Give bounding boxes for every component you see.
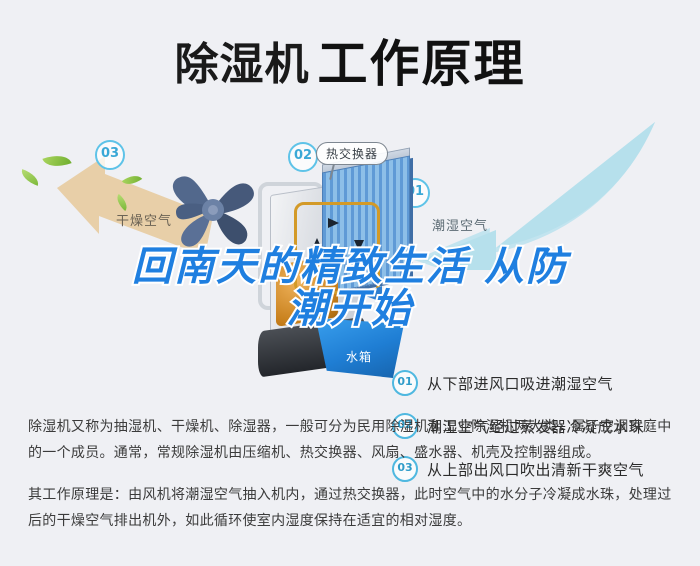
heat-exchanger-callout: 热交换器 (316, 142, 388, 165)
dry-air-label: 干燥空气 (116, 210, 172, 229)
paragraph-1: 除湿机又称为抽湿机、干燥机、除湿器，一般可分为民用除湿机和工业除湿机两大类，属于… (28, 414, 676, 466)
fan-icon (168, 162, 258, 257)
badge-02-heat-exchanger: 02 (288, 142, 318, 172)
refrigerant-pipe-icon (294, 202, 380, 294)
water-tank-label: 水箱 (346, 348, 372, 365)
air-inlet-arrow-icon (360, 286, 382, 302)
title-part-two: 工作原理 (318, 35, 526, 93)
badge-03-dry-air: 03 (95, 140, 125, 170)
dehumidifier-diagram: 01 潮湿空气 03 干燥空气 (0, 120, 700, 410)
legend-text-01: 从下部进风口吸进潮湿空气 (427, 373, 613, 394)
legend-badge-01: 01 (392, 370, 418, 396)
leaf-icon (19, 169, 41, 186)
page-title: 除湿机工作原理 (0, 24, 700, 96)
list-item: 01 从下部进风口吸进潮湿空气 (392, 370, 692, 396)
flow-arrow-up-icon (312, 238, 322, 249)
body-text: 除湿机又称为抽湿机、干燥机、除湿器，一般可分为民用除湿机和工业除湿机两大类，属于… (28, 414, 676, 550)
flow-arrow-right-icon (328, 218, 339, 228)
page-root: 除湿机工作原理 01 潮湿空气 03 干燥空气 (0, 0, 700, 566)
title-part-one: 除湿机 (175, 39, 310, 90)
dehumidifier-machine: 水箱 (250, 142, 425, 392)
flow-arrow-down-icon (354, 240, 364, 251)
paragraph-2: 其工作原理是：由风机将潮湿空气抽入机内，通过热交换器，此时空气中的水分子冷凝成水… (28, 482, 676, 534)
humid-air-label: 潮湿空气 (432, 215, 488, 234)
